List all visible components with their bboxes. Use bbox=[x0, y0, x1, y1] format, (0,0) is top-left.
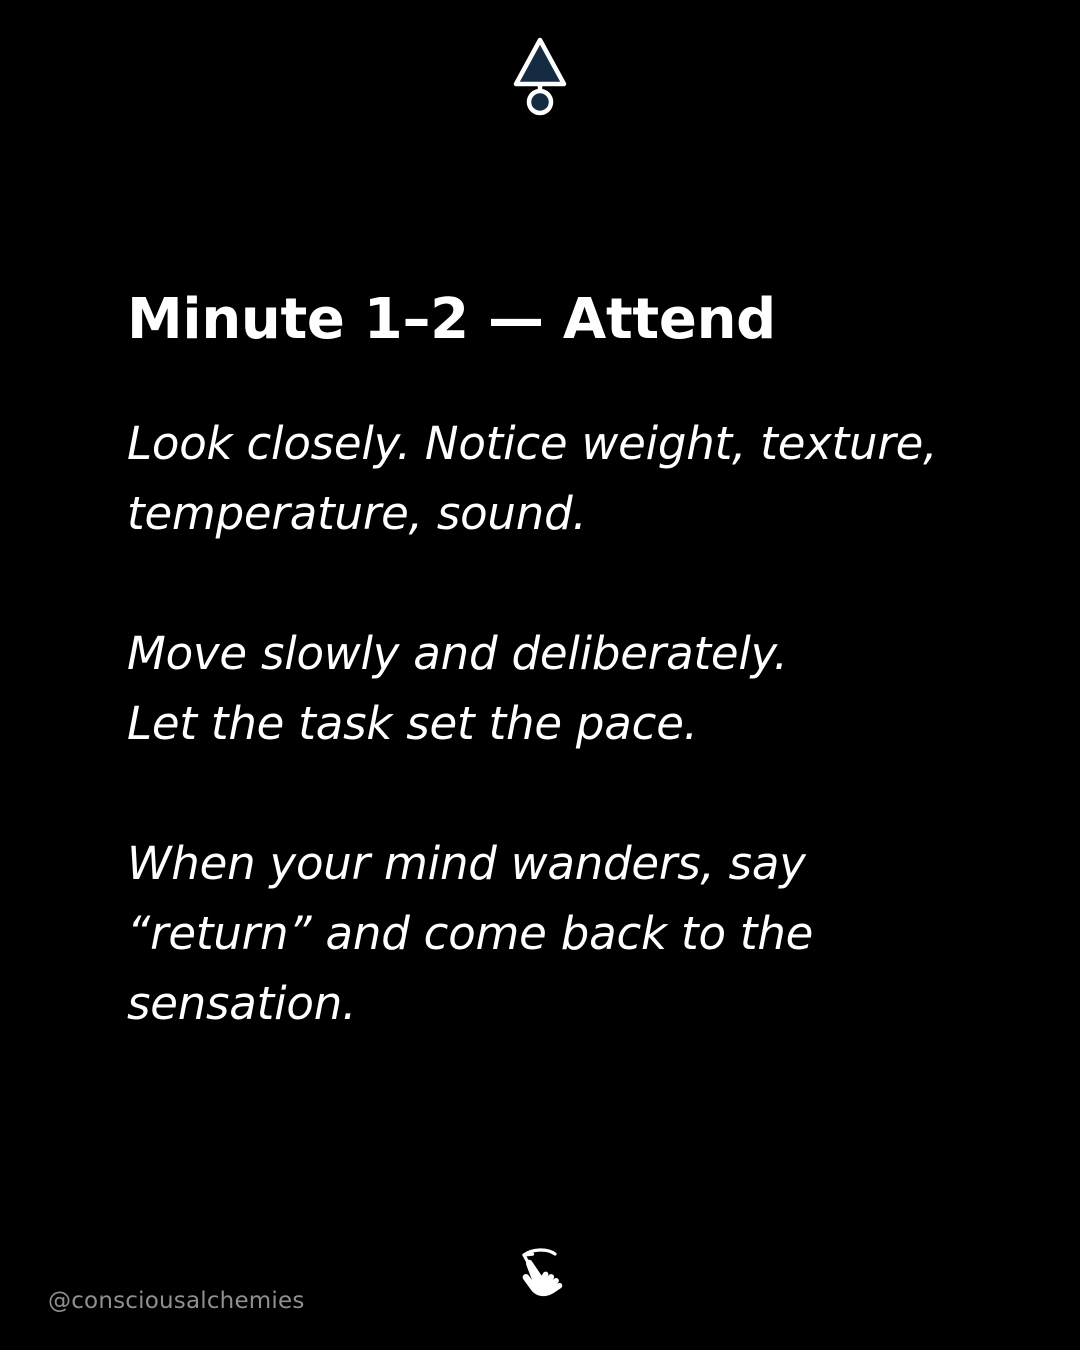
swipe-left-hand-icon[interactable] bbox=[502, 1240, 578, 1316]
hand-silhouette bbox=[523, 1260, 563, 1296]
paragraph-line: temperature, sound. bbox=[127, 479, 957, 549]
account-handle: @consciousalchemies bbox=[48, 1288, 305, 1314]
page-title: Minute 1–2 — Attend bbox=[127, 288, 977, 353]
paragraph-attend-return: When your mind wanders, say “return” and… bbox=[127, 829, 957, 1039]
slide-content: Minute 1–2 — Attend Look closely. Notice… bbox=[127, 288, 977, 1039]
pointing-hand-shape bbox=[523, 1260, 563, 1296]
triangle-circle-alchemy-icon bbox=[495, 30, 585, 120]
body-copy: Look closely. Notice weight, texture, te… bbox=[127, 409, 977, 1039]
circle-shape bbox=[529, 91, 551, 113]
carousel-slide: Minute 1–2 — Attend Look closely. Notice… bbox=[0, 0, 1080, 1350]
paragraph-attend-pace: Move slowly and deliberately. Let the ta… bbox=[127, 619, 957, 759]
brand-mark bbox=[495, 30, 585, 120]
paragraph-line: sensation. bbox=[127, 969, 957, 1039]
paragraph-line: When your mind wanders, say bbox=[127, 829, 957, 899]
paragraph-attend-senses: Look closely. Notice weight, texture, te… bbox=[127, 409, 957, 549]
triangle-shape bbox=[516, 40, 564, 84]
paragraph-line: Move slowly and deliberately. bbox=[127, 619, 957, 689]
paragraph-line: “return” and come back to the bbox=[127, 899, 957, 969]
paragraph-line: Let the task set the pace. bbox=[127, 689, 957, 759]
swipe-hint[interactable] bbox=[502, 1240, 578, 1316]
paragraph-line: Look closely. Notice weight, texture, bbox=[127, 409, 957, 479]
